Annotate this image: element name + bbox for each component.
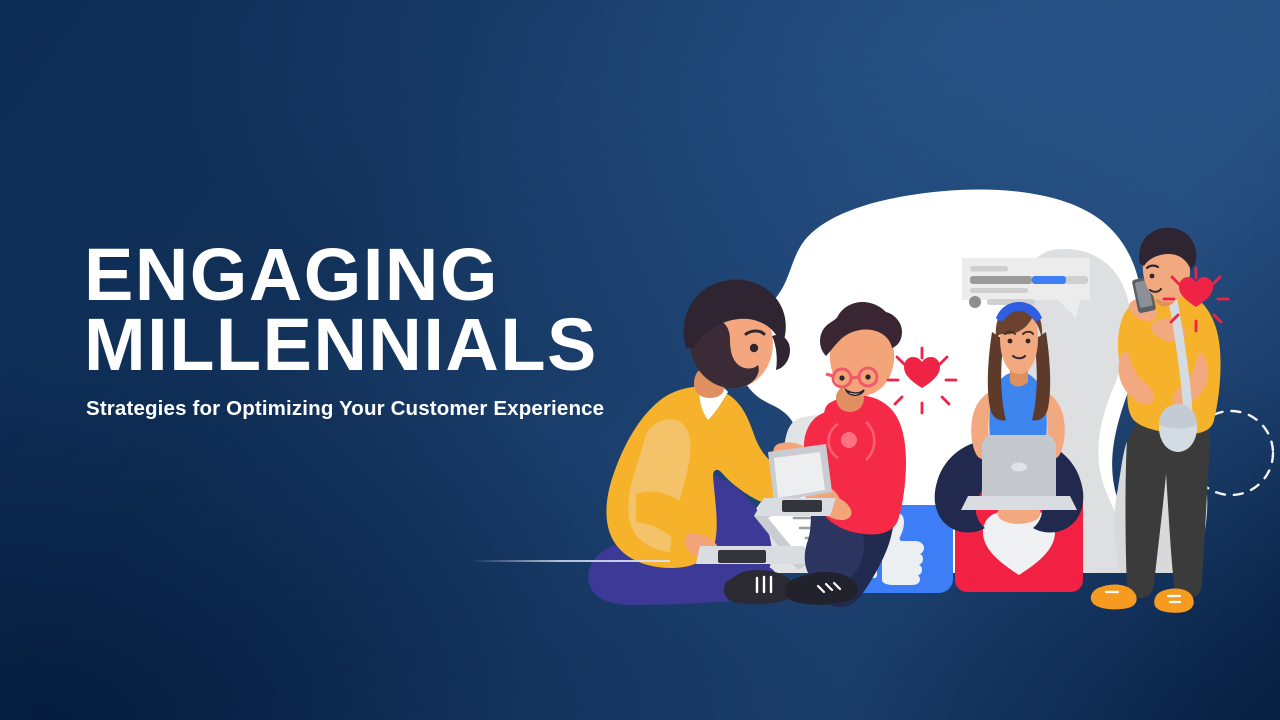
page-title: ENGAGINGMILLENNIALS <box>84 240 604 379</box>
bubble-line-1 <box>970 266 1008 272</box>
page-subtitle: Strategies for Optimizing Your Customer … <box>86 397 604 421</box>
bubble-progress-gray <box>970 276 1032 284</box>
red-shirt-eye-left <box>839 375 844 380</box>
bubble-progress-highlight <box>1032 276 1066 284</box>
woman-eye-left <box>1008 339 1013 344</box>
laptop2-trackpad <box>782 500 822 512</box>
slide-canvas: ENGAGINGMILLENNIALS Strategies for Optim… <box>0 0 1280 720</box>
page-title-line-2: MILLENNIALS <box>84 310 604 380</box>
laptop-trackpad <box>718 550 766 563</box>
laptop3-base <box>961 496 1077 510</box>
laptop3-logo <box>1011 463 1027 472</box>
red-shirt-shoe <box>788 572 857 604</box>
bubble-line-2 <box>970 288 1028 293</box>
laptop2-screen-inner <box>774 452 825 498</box>
woman-eye-right <box>1026 339 1031 344</box>
text-block: ENGAGINGMILLENNIALS Strategies for Optim… <box>84 240 604 421</box>
bubble-avatar-dot <box>969 296 981 308</box>
standing-man-shoe-right <box>1154 589 1194 613</box>
bearded-man-eye <box>750 344 758 352</box>
red-shirt-eye-right <box>865 374 870 379</box>
ground-line <box>470 560 670 562</box>
standing-man-eye <box>1150 274 1155 279</box>
